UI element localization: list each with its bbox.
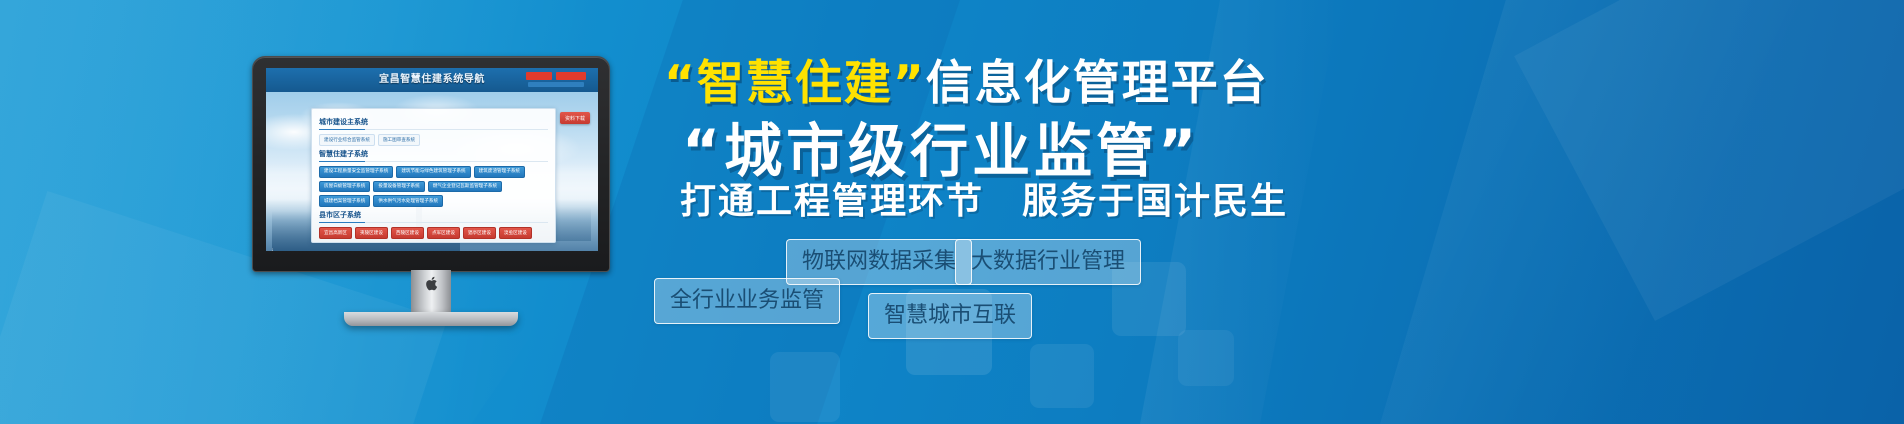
headline-line-3: 打通工程管理环节 服务于国计民生	[680, 172, 1288, 224]
desktop-monitor-mockup: 宜昌智慧住建系统导航 资料下载 城市建设主系统 建设行业综合监管系统 施工图审查…	[252, 56, 610, 304]
district-chip[interactable]: 夷陵区建设	[355, 227, 388, 239]
district-chip[interactable]: 当阳市建设	[355, 242, 388, 243]
screen-logo-icon	[526, 70, 588, 90]
headline-quote-open: “	[664, 56, 697, 111]
district-chip[interactable]: 点军区建设	[427, 227, 460, 239]
district-chip[interactable]: 西陵区建设	[391, 227, 424, 239]
monitor-chin	[265, 252, 597, 266]
system-chip[interactable]: 投量设备管理子系统	[373, 181, 424, 193]
headline-line-1: “智慧住建”信息化管理平台	[664, 44, 1269, 113]
promo-banner: 宜昌智慧住建系统导航 资料下载 城市建设主系统 建设行业综合监管系统 施工图审查…	[0, 0, 1904, 424]
district-chip[interactable]: 兴山县建设	[463, 242, 496, 243]
district-chip[interactable]: 宜昌高新区	[319, 227, 352, 239]
headline-block: “智慧住建”信息化管理平台 “城市级行业监管” 打通工程管理环节 服务于国计民生	[640, 0, 1904, 424]
system-chip[interactable]: 建设工程质量安全监管理子系统	[319, 166, 393, 178]
district-chip[interactable]: 猖亭区建设	[463, 227, 496, 239]
district-chip[interactable]: 远安县建设	[427, 242, 460, 243]
feature-tag-bigdata[interactable]: 大数据行业管理	[955, 239, 1141, 285]
headline-line-1-rest: 信息化管理平台	[926, 56, 1269, 111]
section-title-county: 县市区子系统	[319, 210, 548, 220]
download-button[interactable]: 资料下载	[560, 112, 590, 124]
system-chip[interactable]: 燃气企业登记瓦斯监管理子系统	[428, 181, 502, 193]
monitor-bezel: 宜昌智慧住建系统导航 资料下载 城市建设主系统 建设行业综合监管系统 施工图审查…	[252, 56, 610, 272]
feature-tag-smart-city[interactable]: 智慧城市互联	[868, 293, 1032, 339]
district-chip[interactable]: 渜亟区建设	[499, 227, 532, 239]
system-chip[interactable]: 供水供气污水处理管理子系统	[373, 195, 443, 207]
section-rule	[319, 161, 548, 162]
section-title-smart: 智慧住建子系统	[319, 149, 548, 159]
section-items-county: 宜昌高新区 夷陵区建设 西陵区建设 点军区建设 猖亭区建设 渜亟区建设 宜都市建…	[319, 227, 548, 243]
feature-tag-industry-supervision[interactable]: 全行业业务监管	[654, 278, 840, 324]
section-rule	[319, 129, 548, 130]
district-chip[interactable]: 宜都市建设	[319, 242, 352, 243]
monitor-screen: 宜昌智慧住建系统导航 资料下载 城市建设主系统 建设行业综合监管系统 施工图审查…	[266, 68, 598, 251]
section-title-city: 城市建设主系统	[319, 117, 548, 127]
monitor-stand-base	[344, 312, 518, 326]
system-chip[interactable]: 城建档案管理子系统	[319, 195, 370, 207]
district-chip[interactable]: 秭归县建设	[499, 242, 532, 243]
headline-highlight: 智慧住建	[697, 56, 893, 111]
section-items-smart: 建设工程质量安全监管理子系统 建筑节能与绿色建筑管理子系统 建筑废渣管理子系统 …	[319, 166, 548, 207]
section-rule	[319, 222, 548, 223]
system-chip[interactable]: 房屋白蚁管理子系统	[319, 181, 370, 193]
system-chip[interactable]: 建设行业综合监管系统	[319, 134, 375, 146]
district-chip[interactable]: 枝江市建设	[391, 242, 424, 243]
section-items-city: 建设行业综合监管系统 施工图审查系统	[319, 134, 548, 146]
system-chip[interactable]: 建筑废渣管理子系统	[474, 166, 525, 178]
headline-quote-close: ”	[893, 56, 926, 111]
apple-logo-icon	[426, 276, 439, 291]
system-chip[interactable]: 建筑节能与绿色建筑管理子系统	[396, 166, 470, 178]
screen-content-card: 城市建设主系统 建设行业综合监管系统 施工图审查系统 智慧住建子系统 建设工程质…	[311, 108, 556, 243]
system-chip[interactable]: 施工图审查系统	[378, 134, 420, 146]
